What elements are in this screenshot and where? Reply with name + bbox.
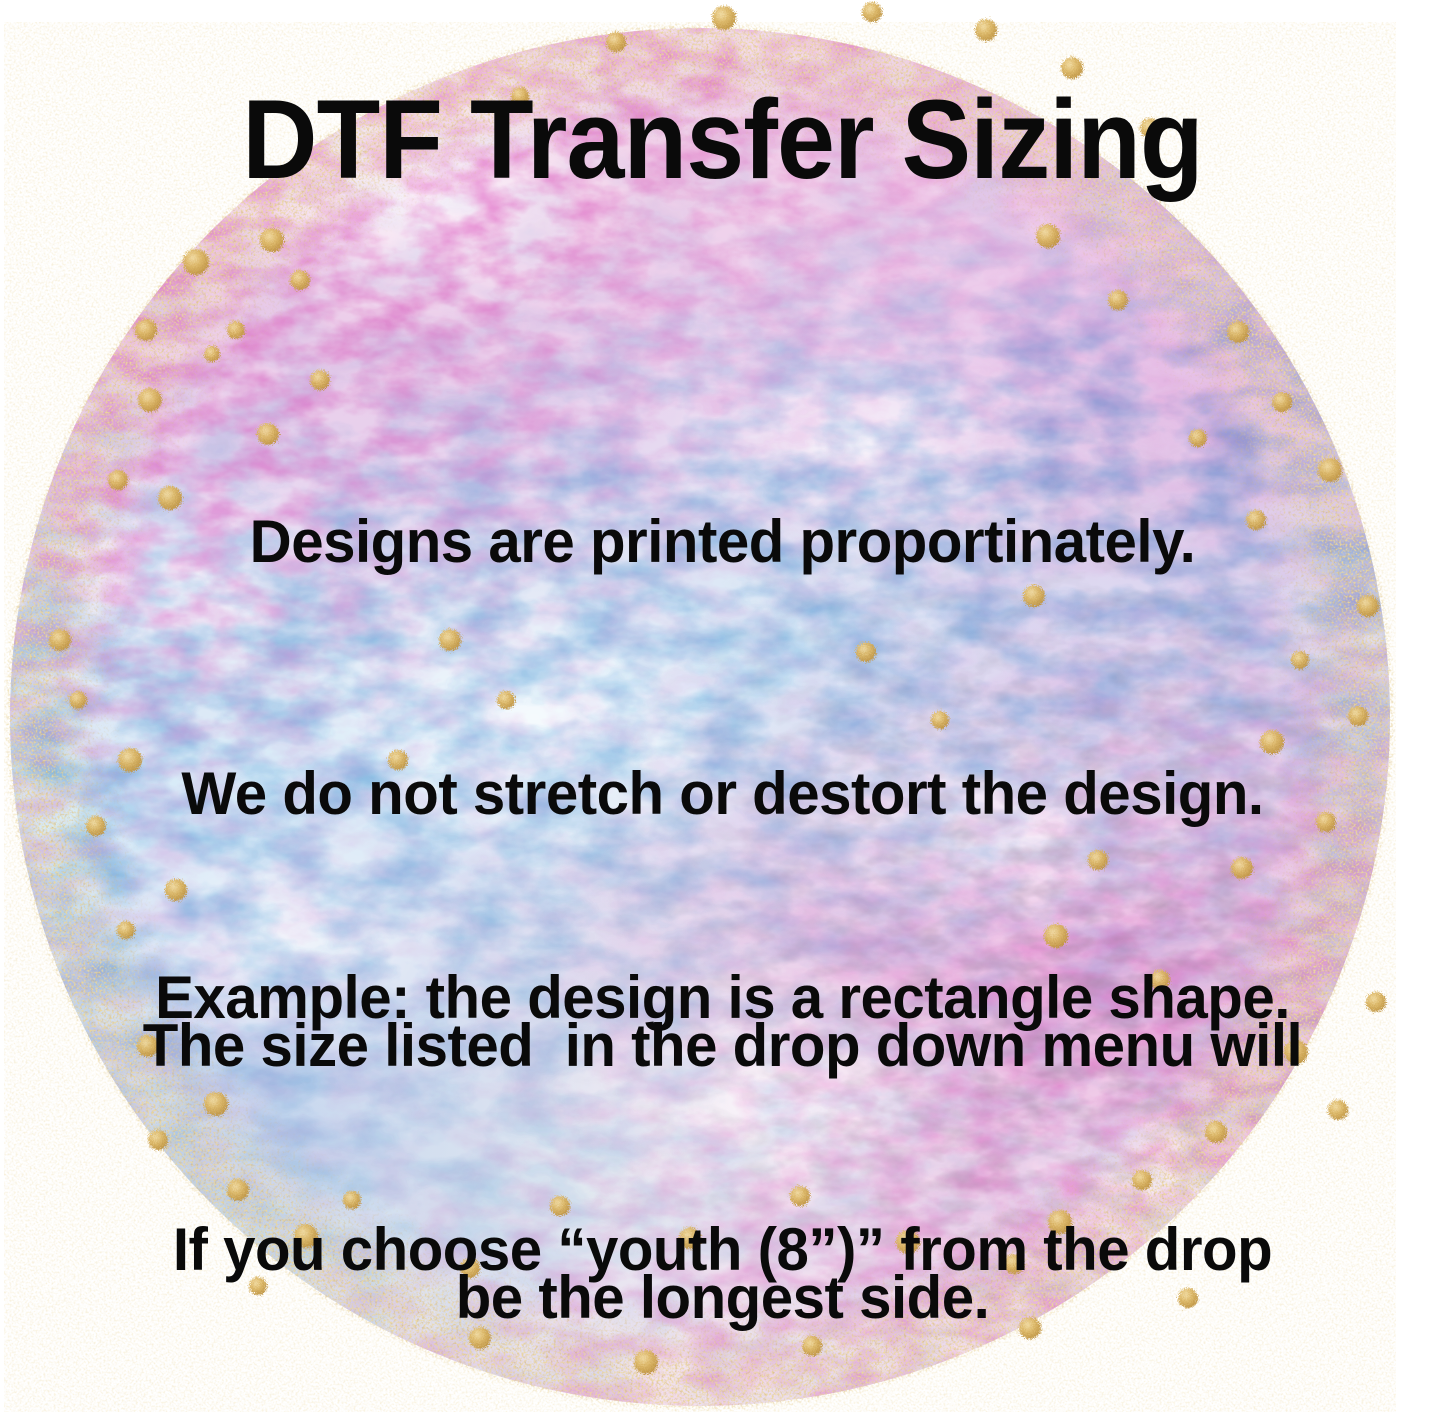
paragraph-1-line-1: Designs are printed proportinately. xyxy=(82,500,1363,584)
paragraph-2-line-2: If you choose “youth (8”)” from the drop xyxy=(82,1208,1363,1292)
text-overlay: DTF Transfer Sizing Designs are printed … xyxy=(0,0,1445,1426)
paragraph-example: Example: the design is a rectangle shape… xyxy=(82,788,1363,1426)
paragraph-2-line-1: Example: the design is a rectangle shape… xyxy=(82,956,1363,1040)
page-title: DTF Transfer Sizing xyxy=(51,84,1395,196)
sizing-graphic-canvas: DTF Transfer Sizing Designs are printed … xyxy=(0,0,1445,1426)
